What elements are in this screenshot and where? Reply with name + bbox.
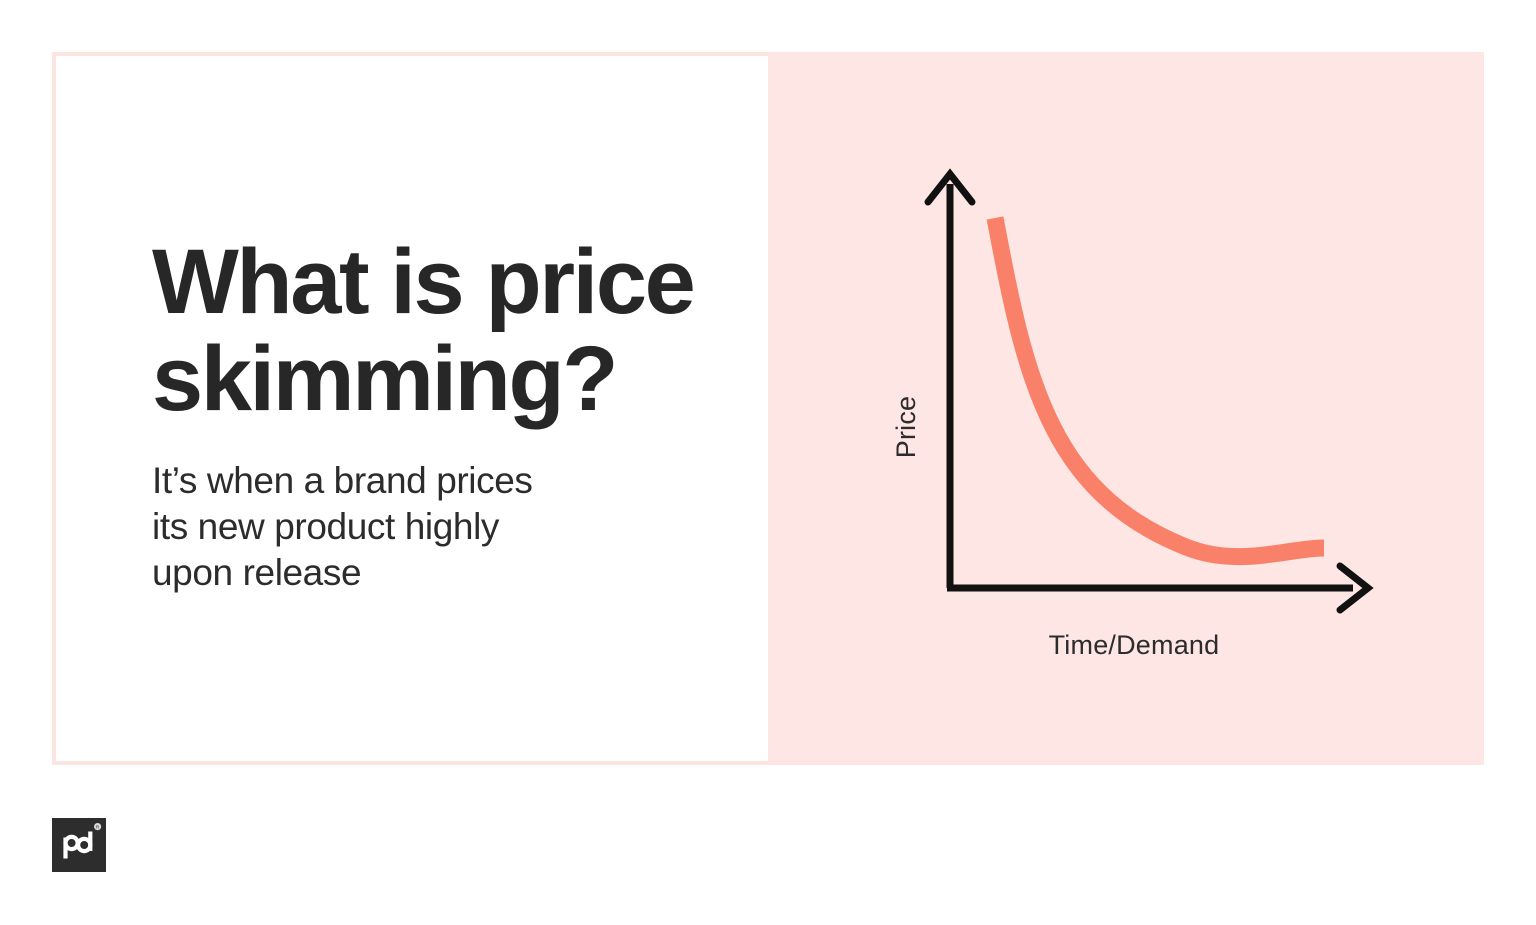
y-axis bbox=[928, 174, 972, 588]
pandadoc-logo-mark: R bbox=[52, 818, 106, 872]
text-panel: What is price skimming? It’s when a bran… bbox=[52, 52, 768, 765]
pd-monogram-icon bbox=[66, 832, 91, 859]
price-skimming-chart: Price Time/Demand bbox=[768, 52, 1484, 765]
text-block: What is price skimming? It’s when a bran… bbox=[152, 234, 712, 596]
page-subtitle: It’s when a brand prices its new product… bbox=[152, 458, 712, 596]
y-axis-label: Price bbox=[891, 396, 921, 459]
chart-panel: Price Time/Demand bbox=[768, 52, 1484, 765]
pandadoc-logo: R bbox=[52, 818, 106, 872]
infographic-card: What is price skimming? It’s when a bran… bbox=[52, 52, 1484, 765]
price-curve bbox=[995, 218, 1324, 557]
page-title: What is price skimming? bbox=[152, 234, 712, 428]
x-axis-label: Time/Demand bbox=[1049, 630, 1220, 660]
x-axis bbox=[947, 566, 1368, 610]
registered-trademark-icon: R bbox=[94, 823, 101, 830]
